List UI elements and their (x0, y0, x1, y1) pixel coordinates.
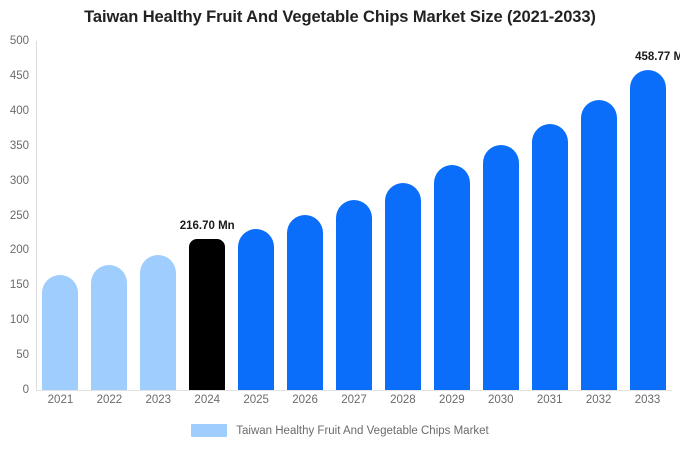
chart-title: Taiwan Healthy Fruit And Vegetable Chips… (0, 8, 680, 27)
bar-slot (434, 41, 470, 390)
bar-value-label-2033: 458.77 Mr (635, 51, 680, 63)
x-axis-tick-label-2022: 2022 (91, 394, 127, 406)
bar-2021[interactable] (42, 275, 78, 390)
bar-2031[interactable] (532, 124, 568, 390)
x-axis-labels: 2021202220232024202520262027202820292030… (36, 394, 672, 414)
bar-2028[interactable] (385, 183, 421, 390)
chart-legend: Taiwan Healthy Fruit And Vegetable Chips… (0, 424, 680, 437)
bar-slot (385, 41, 421, 390)
x-axis-tick-label-2032: 2032 (581, 394, 617, 406)
bar-2027[interactable] (336, 200, 372, 390)
bar-chart: Taiwan Healthy Fruit And Vegetable Chips… (0, 0, 680, 450)
bar-slot: 458.77 Mr (630, 41, 666, 390)
bar-slot: 216.70 Mn (189, 41, 225, 390)
bar-slot (238, 41, 274, 390)
bar-slot (483, 41, 519, 390)
x-axis-line (36, 390, 672, 391)
bar-2022[interactable] (91, 265, 127, 390)
bar-2032[interactable] (581, 100, 617, 390)
legend-label[interactable]: Taiwan Healthy Fruit And Vegetable Chips… (236, 425, 489, 437)
x-axis-tick-label-2028: 2028 (385, 394, 421, 406)
y-axis-tick-label: 0 (23, 384, 29, 396)
bar-slot (336, 41, 372, 390)
bar-slot (287, 41, 323, 390)
x-axis-tick-label-2023: 2023 (140, 394, 176, 406)
y-axis-tick-label: 350 (10, 140, 29, 152)
bar-2026[interactable] (287, 215, 323, 390)
bar-slot (581, 41, 617, 390)
bar-slot (42, 41, 78, 390)
bar-slot (532, 41, 568, 390)
y-axis-tick-label: 400 (10, 105, 29, 117)
bar-value-label-2024: 216.70 Mn (180, 220, 235, 232)
x-axis-tick-label-2026: 2026 (287, 394, 323, 406)
x-axis-tick-label-2029: 2029 (434, 394, 470, 406)
x-axis-tick-label-2027: 2027 (336, 394, 372, 406)
x-axis-tick-label-2033: 2033 (630, 394, 666, 406)
bar-2030[interactable] (483, 145, 519, 390)
y-axis-tick-label: 300 (10, 175, 29, 187)
x-axis-tick-label-2030: 2030 (483, 394, 519, 406)
bar-2033[interactable]: 458.77 Mr (630, 70, 666, 390)
y-axis-tick-label: 200 (10, 244, 29, 256)
y-axis-tick-label: 150 (10, 279, 29, 291)
bars-layer: 216.70 Mn458.77 Mr (36, 41, 672, 390)
y-axis-tick-label: 500 (10, 35, 29, 47)
x-axis-tick-label-2031: 2031 (532, 394, 568, 406)
bar-2025[interactable] (238, 229, 274, 390)
bar-2024[interactable]: 216.70 Mn (189, 239, 225, 390)
y-axis-tick-label: 50 (16, 349, 29, 361)
x-axis-tick-label-2025: 2025 (238, 394, 274, 406)
x-axis-tick-label-2021: 2021 (42, 394, 78, 406)
x-axis-tick-label-2024: 2024 (189, 394, 225, 406)
plot-area: 050100150200250300350400450500 216.70 Mn… (36, 41, 672, 390)
y-axis-tick-label: 450 (10, 70, 29, 82)
bar-slot (91, 41, 127, 390)
y-axis-tick-label: 100 (10, 314, 29, 326)
y-axis-tick-label: 250 (10, 210, 29, 222)
bar-slot (140, 41, 176, 390)
bar-2029[interactable] (434, 165, 470, 390)
bar-2023[interactable] (140, 255, 176, 390)
legend-swatch[interactable] (191, 424, 227, 437)
